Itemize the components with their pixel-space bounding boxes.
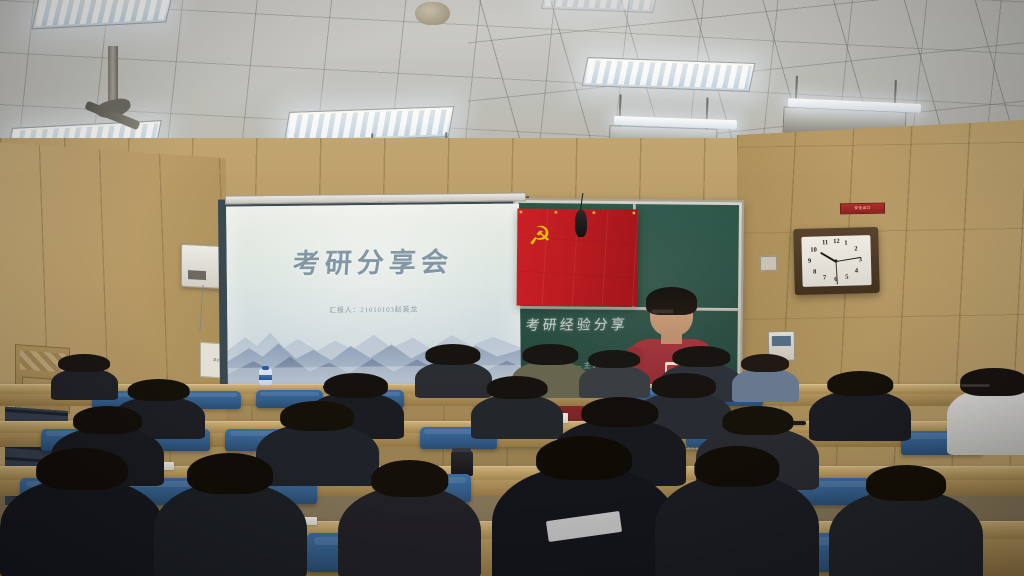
clock-numeral: 12 xyxy=(833,237,840,244)
clock-face: 12 1 2 3 4 5 6 7 8 9 10 11 xyxy=(801,235,872,287)
flag-clip xyxy=(632,211,635,214)
audience-head xyxy=(695,446,780,488)
audience-member xyxy=(471,394,563,439)
audience-member xyxy=(154,482,308,576)
smoke-detector-icon xyxy=(415,2,450,25)
audience-head xyxy=(961,368,1024,396)
audience-member xyxy=(256,423,379,486)
chalk-title: 考研经验分享 xyxy=(525,313,629,334)
clock-numeral: 7 xyxy=(822,274,825,281)
water-bottle xyxy=(259,369,272,385)
clock-numeral: 11 xyxy=(822,239,828,246)
audience-head xyxy=(324,373,388,397)
black-thermos xyxy=(451,451,474,476)
clock-numeral: 2 xyxy=(854,245,857,252)
notice-sign-text: 禁止 xyxy=(213,358,219,363)
clock-numeral: 10 xyxy=(810,246,817,253)
wall-switch-plate[interactable] xyxy=(760,256,778,271)
presenter-glasses-icon xyxy=(651,309,674,314)
clock-numeral: 4 xyxy=(854,267,857,274)
audience-member xyxy=(492,466,676,576)
clock-second-hand xyxy=(836,261,838,284)
audience-seating xyxy=(0,380,1024,576)
shirt-graphic xyxy=(546,511,622,542)
audience-head xyxy=(73,406,143,434)
audience-member-white-jacket xyxy=(947,388,1024,455)
audience-head xyxy=(187,453,273,494)
audience-member xyxy=(809,390,911,441)
exit-sign: 安全出口 xyxy=(840,203,885,215)
clock-numeral: 8 xyxy=(813,268,816,275)
audience-member xyxy=(338,486,481,576)
microphone-body xyxy=(575,210,586,237)
thermos-cap xyxy=(452,448,471,452)
audience-head xyxy=(36,448,128,491)
audience-head xyxy=(827,371,893,396)
audience-head xyxy=(741,354,789,372)
audience-head xyxy=(722,406,793,435)
audience-head xyxy=(59,354,111,372)
audience-head xyxy=(651,373,715,397)
audience-head xyxy=(371,460,448,498)
exit-sign-text: 安全出口 xyxy=(854,206,870,211)
bottle-cap xyxy=(262,366,269,370)
audience-head xyxy=(281,401,355,431)
classroom-scene: 禁止 安全出口 12 1 2 3 4 5 6 7 8 9 10 11 xyxy=(0,0,1024,576)
clock-numeral: 9 xyxy=(807,257,810,264)
audience-member xyxy=(655,474,819,576)
audience-member xyxy=(51,368,118,399)
audience-head xyxy=(673,346,730,367)
audience-head xyxy=(866,465,946,501)
audience-member xyxy=(732,368,799,401)
slide-title: 考研分享会 xyxy=(226,240,521,282)
clock-minute-hand xyxy=(836,256,861,262)
audience-member xyxy=(0,478,164,576)
glasses-icon xyxy=(961,384,990,387)
clock-center-pin xyxy=(835,259,838,262)
audience-head xyxy=(536,436,632,481)
audience-member xyxy=(579,365,651,398)
audience-head xyxy=(523,344,578,365)
wall-clock: 12 1 2 3 4 5 6 7 8 9 10 11 xyxy=(793,226,880,294)
hammer-and-sickle-icon: ☭ xyxy=(528,224,570,275)
audience-member xyxy=(829,490,983,576)
microphone-icon xyxy=(575,193,586,236)
clock-numeral: 1 xyxy=(844,239,847,246)
audience-head xyxy=(589,350,641,369)
audience-head xyxy=(487,376,548,399)
audience-head xyxy=(425,344,480,365)
bottle-label xyxy=(259,375,272,380)
audience-head xyxy=(581,397,658,428)
clock-numeral: 5 xyxy=(845,273,848,280)
audience-member xyxy=(415,361,492,398)
audience-head xyxy=(127,379,190,401)
ceiling-fan-mount xyxy=(108,46,118,104)
flag-clip xyxy=(592,211,595,214)
